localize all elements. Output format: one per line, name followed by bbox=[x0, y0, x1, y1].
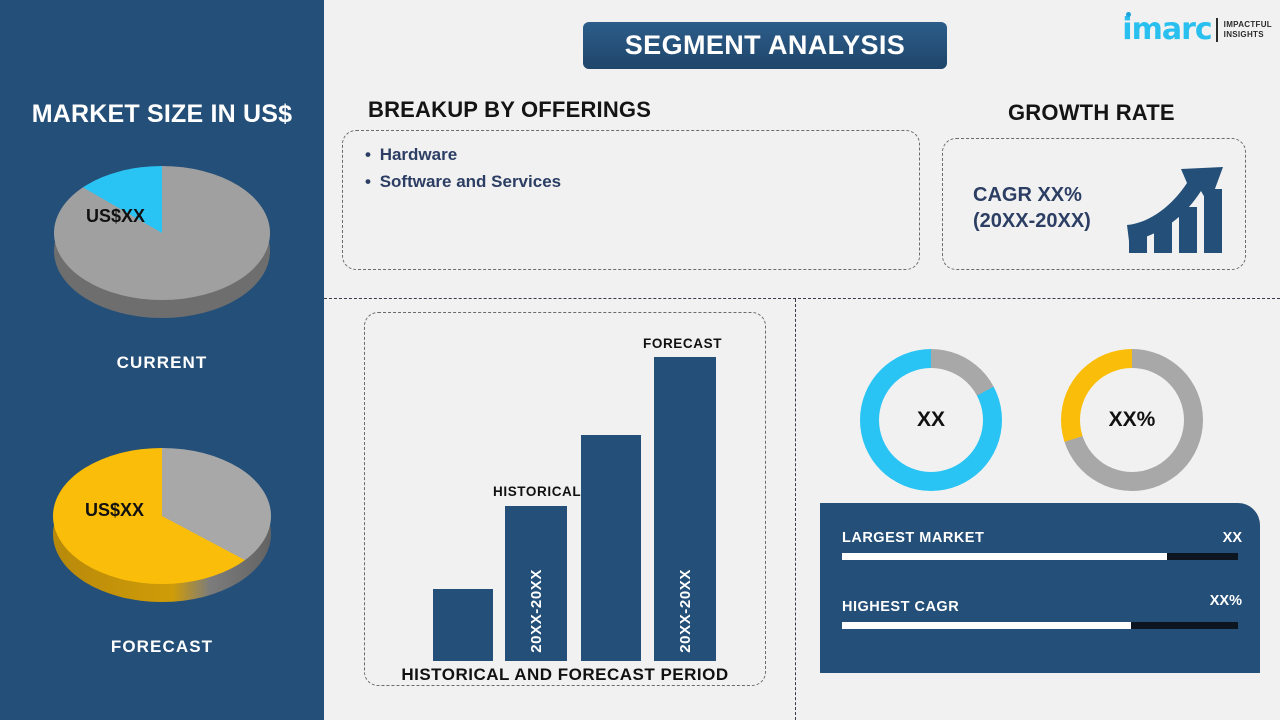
pie-current-caption: CURRENT bbox=[0, 353, 324, 373]
list-item[interactable]: • Hardware bbox=[365, 145, 561, 165]
donut-right-value: XX% bbox=[1109, 408, 1156, 432]
stat-fill-highest-cagr bbox=[842, 622, 1131, 629]
bar-4-period-label: 20XX-20XX bbox=[677, 569, 694, 653]
offerings-box: • Hardware • Software and Services bbox=[342, 130, 920, 270]
stat-track-largest-market[interactable] bbox=[842, 553, 1238, 560]
horizontal-divider bbox=[324, 298, 1280, 299]
main-panel: SEGMENT ANALYSIS imarc IMPACTFUL INSIGHT… bbox=[324, 0, 1280, 720]
current-pie-block: US$XX CURRENT bbox=[0, 166, 324, 373]
stats-panel: LARGEST MARKET XX HIGHEST CAGR XX% bbox=[820, 503, 1260, 673]
stat-label-largest-market: LARGEST MARKET bbox=[842, 530, 984, 546]
cagr-line-2: (20XX-20XX) bbox=[973, 209, 1091, 235]
offering-label: Hardware bbox=[380, 145, 457, 164]
sidebar-title: MARKET SIZE IN US$ bbox=[0, 100, 324, 129]
bar-2-period-label: 20XX-20XX bbox=[528, 569, 545, 653]
cagr-line-1: CAGR XX% bbox=[973, 183, 1091, 209]
pie-forecast-label: US$XX bbox=[85, 500, 144, 521]
pie-current-top bbox=[54, 166, 270, 300]
bar-3[interactable] bbox=[581, 435, 641, 661]
donut-left-value: XX bbox=[917, 408, 945, 432]
infographic-root: MARKET SIZE IN US$ US$XX CURRENT US$XX F… bbox=[0, 0, 1280, 720]
bar-1[interactable] bbox=[433, 589, 493, 661]
page-title-badge: SEGMENT ANALYSIS bbox=[583, 22, 947, 69]
stat-fill-largest-market bbox=[842, 553, 1167, 560]
vertical-divider bbox=[795, 299, 796, 720]
logo-tagline-line2: INSIGHTS bbox=[1224, 30, 1272, 40]
donut-right-hole: XX% bbox=[1080, 368, 1184, 472]
donut-left[interactable]: XX bbox=[860, 349, 1002, 491]
offerings-list: • Hardware • Software and Services bbox=[365, 145, 561, 199]
forecast-pie-block: US$XX FORECAST bbox=[0, 448, 324, 657]
growth-rate-box: CAGR XX% (20XX-20XX) bbox=[942, 138, 1246, 270]
stat-track-highest-cagr[interactable] bbox=[842, 622, 1238, 629]
list-item[interactable]: • Software and Services bbox=[365, 172, 561, 192]
page-title: SEGMENT ANALYSIS bbox=[625, 30, 905, 61]
stat-value-largest-market: XX bbox=[1223, 530, 1242, 546]
pie-chart-forecast: US$XX bbox=[53, 448, 271, 584]
pie-forecast-caption: FORECAST bbox=[0, 637, 324, 657]
offering-label: Software and Services bbox=[380, 172, 561, 191]
bullet-dot-icon: • bbox=[365, 172, 371, 191]
pie-chart-current: US$XX bbox=[54, 166, 270, 300]
offerings-heading: BREAKUP BY OFFERINGS bbox=[368, 97, 651, 123]
stat-value-highest-cagr: XX% bbox=[1210, 593, 1242, 609]
logo-tagline-line1: IMPACTFUL bbox=[1224, 20, 1272, 30]
bullet-dot-icon: • bbox=[365, 145, 371, 164]
donut-right[interactable]: XX% bbox=[1061, 349, 1203, 491]
logo-wordmark-text: imarc bbox=[1122, 12, 1211, 47]
bar-4-annotation: FORECAST bbox=[643, 336, 722, 351]
bar-2-annotation: HISTORICAL bbox=[493, 484, 581, 499]
logo-divider-icon bbox=[1216, 18, 1218, 42]
donut-left-hole: XX bbox=[879, 368, 983, 472]
cagr-text: CAGR XX% (20XX-20XX) bbox=[973, 183, 1091, 234]
bar-chart-axis-label: HISTORICAL AND FORECAST PERIOD bbox=[365, 665, 765, 685]
bar-chart-box: 20XX-20XX HISTORICAL 20XX-20XX FORECAST … bbox=[364, 312, 766, 686]
growth-rate-heading: GROWTH RATE bbox=[1008, 100, 1175, 126]
stat-label-highest-cagr: HIGHEST CAGR bbox=[842, 599, 959, 615]
market-size-sidebar: MARKET SIZE IN US$ US$XX CURRENT US$XX F… bbox=[0, 0, 324, 720]
logo-wordmark-icon: imarc bbox=[1122, 15, 1211, 45]
imarc-logo: imarc IMPACTFUL INSIGHTS bbox=[1122, 10, 1272, 50]
pie-current-label: US$XX bbox=[86, 206, 145, 227]
growth-arrow-bars-icon bbox=[1123, 151, 1235, 256]
logo-tagline: IMPACTFUL INSIGHTS bbox=[1224, 20, 1272, 40]
